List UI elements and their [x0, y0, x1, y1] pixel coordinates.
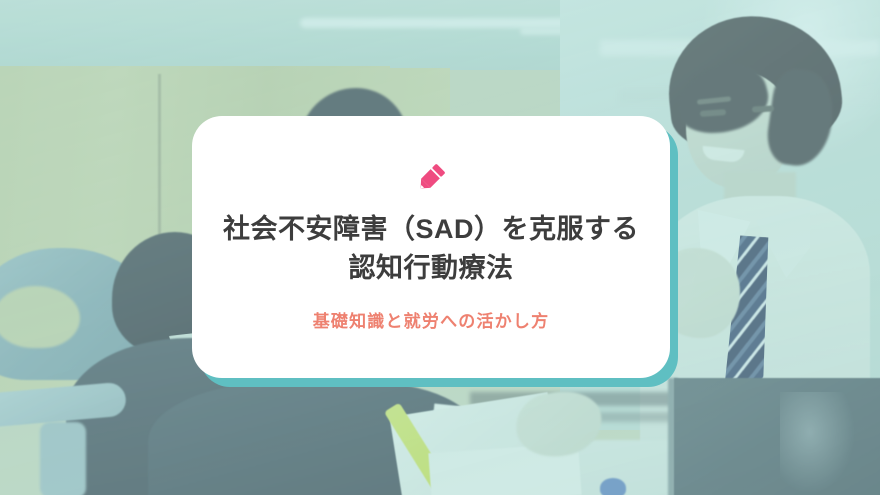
title-card-wrapper: 社会不安障害（SAD）を克服する 認知行動療法 基礎知識と就労への活かし方	[192, 116, 670, 378]
pencil-icon	[414, 162, 448, 194]
page-subtitle: 基礎知識と就労への活かし方	[313, 307, 550, 332]
title-card: 社会不安障害（SAD）を克服する 認知行動療法 基礎知識と就労への活かし方	[192, 116, 670, 378]
page-title: 社会不安障害（SAD）を克服する 認知行動療法	[223, 210, 639, 288]
title-card-page: 社会不安障害（SAD）を克服する 認知行動療法 基礎知識と就労への活かし方	[0, 0, 880, 495]
